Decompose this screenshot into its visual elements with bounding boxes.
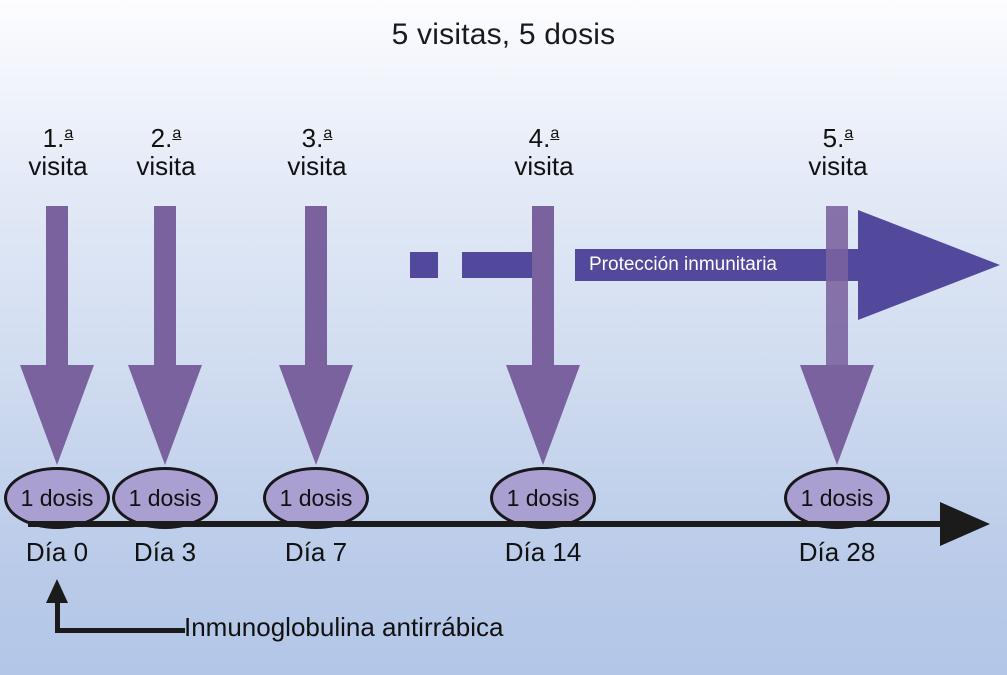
visit-label-4: 4.a visita [496,124,592,180]
dose-pill-2: 1 dosis [112,467,218,529]
timeline-axis [28,521,948,527]
immunity-chip-small [410,252,438,278]
visit-ordinal-4: 4.a [496,124,592,152]
dose-pill-label-2: 1 dosis [129,485,202,512]
immunoglobulin-label: Inmunoglobulina antirrábica [184,612,503,643]
visit-word-5: visita [790,152,886,180]
vaccination-schedule-figure: 5 visitas, 5 dosis 1.a visita 2.a visita… [0,0,1007,675]
immunity-arrowhead-icon [858,210,1000,320]
dose-arrow-head-2 [128,365,202,465]
day-label-5: Día 28 [784,537,890,568]
dose-arrow-head-1 [20,365,94,465]
dose-arrow-3 [279,206,353,465]
dose-pill-3: 1 dosis [263,467,369,529]
dose-arrow-head-5 [800,365,874,465]
visit-word-1: visita [10,152,106,180]
dose-pill-label-3: 1 dosis [280,485,353,512]
visit-label-1: 1.a visita [10,124,106,180]
dose-pill-4: 1 dosis [490,467,596,529]
visit-word-3: visita [269,152,365,180]
dose-arrow-4 [506,206,580,465]
dose-pill-5: 1 dosis [784,467,890,529]
dose-pill-label-4: 1 dosis [507,485,580,512]
dose-arrow-head-4 [506,365,580,465]
immunity-label: Protección inmunitaria [589,254,777,276]
day-label-4: Día 14 [490,537,596,568]
visit-ordinal-3: 3.a [269,124,365,152]
visit-ordinal-5: 5.a [790,124,886,152]
dose-arrow-1 [20,206,94,465]
visit-ordinal-1: 1.a [10,124,106,152]
figure-title: 5 visitas, 5 dosis [0,18,1007,52]
visit-ordinal-2: 2.a [118,124,214,152]
dose-arrow-shaft-3 [305,206,327,366]
dose-pill-1: 1 dosis [4,467,110,529]
dose-arrow-shaft-1 [46,206,68,366]
day-label-2: Día 3 [112,537,218,568]
dose-arrow-2 [128,206,202,465]
visit-word-2: visita [118,152,214,180]
visit-word-4: visita [496,152,592,180]
timeline-arrowhead-icon [940,502,990,546]
dose-arrow-5 [800,206,874,465]
dose-pill-label-5: 1 dosis [801,485,874,512]
visit-label-3: 3.a visita [269,124,365,180]
visit-label-2: 2.a visita [118,124,214,180]
day-label-1: Día 0 [4,537,110,568]
immunoglobulin-leader-horizontal [55,628,185,633]
dose-arrow-shaft-2 [154,206,176,366]
dose-arrow-head-3 [279,365,353,465]
visit-label-5: 5.a visita [790,124,886,180]
dose-arrow-shaft-5 [826,206,848,366]
day-label-3: Día 7 [263,537,369,568]
dose-pill-label-1: 1 dosis [21,485,94,512]
dose-arrow-shaft-4 [532,206,554,366]
